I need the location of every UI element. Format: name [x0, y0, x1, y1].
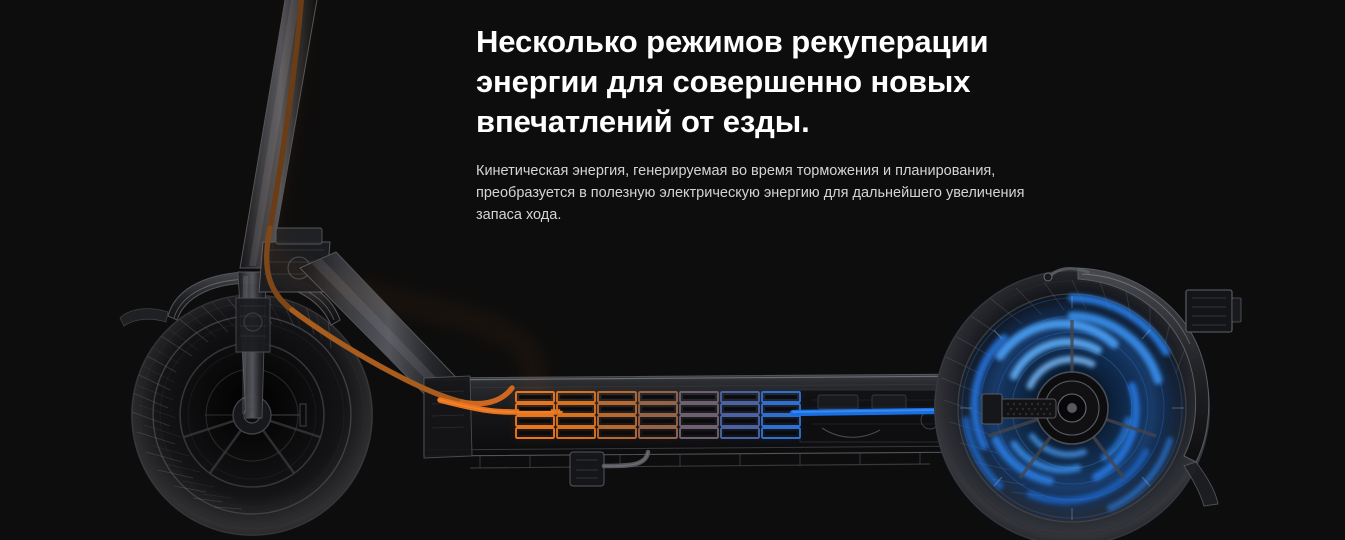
- battery-cell-core: [683, 395, 715, 399]
- battery-cell-core: [601, 419, 633, 423]
- battery-cell-core: [519, 419, 551, 423]
- battery-cell-core: [560, 407, 592, 411]
- battery-cell-core: [683, 431, 715, 435]
- battery-cell-core: [642, 431, 674, 435]
- battery-cell-core: [560, 395, 592, 399]
- battery-cell-core: [642, 407, 674, 411]
- battery-cell-core: [724, 419, 756, 423]
- battery-cell-core: [765, 431, 797, 435]
- heading-line-2: энергии для совершенно новых: [476, 62, 1056, 102]
- battery-cell-core: [560, 419, 592, 423]
- battery-cell-core: [642, 419, 674, 423]
- battery-cell-core: [601, 395, 633, 399]
- battery-cell-core: [683, 407, 715, 411]
- battery-cell-grid: [515, 390, 801, 440]
- body-line-2: преобразуется в полезную электрическую э…: [476, 182, 1056, 204]
- battery-cell-core: [724, 407, 756, 411]
- battery-cell-core: [601, 431, 633, 435]
- battery-cell-core: [724, 431, 756, 435]
- body-line-3: запаса хода.: [476, 204, 1056, 226]
- body-line-1: Кинетическая энергия, генерируемая во вр…: [476, 160, 1056, 182]
- battery-cell-core: [724, 395, 756, 399]
- battery-cell-core: [683, 419, 715, 423]
- page-description: Кинетическая энергия, генерируемая во вр…: [476, 160, 1056, 226]
- battery-cell-core: [642, 395, 674, 399]
- energy-recuperation-banner: Несколько режимов рекуперации энергии дл…: [0, 0, 1345, 540]
- battery-cell-core: [765, 419, 797, 423]
- heading-line-3: впечатлений от езды.: [476, 102, 1056, 142]
- battery-cell-core: [601, 407, 633, 411]
- heading-line-1: Несколько режимов рекуперации: [476, 22, 1056, 62]
- marketing-copy: Несколько режимов рекуперации энергии дл…: [476, 22, 1056, 226]
- page-title: Несколько режимов рекуперации энергии дл…: [476, 22, 1056, 142]
- battery-cell-core: [560, 431, 592, 435]
- battery-cell-core: [519, 407, 551, 411]
- battery-cell-core: [519, 395, 551, 399]
- battery-cell-core: [765, 395, 797, 399]
- battery-cell-core: [519, 431, 551, 435]
